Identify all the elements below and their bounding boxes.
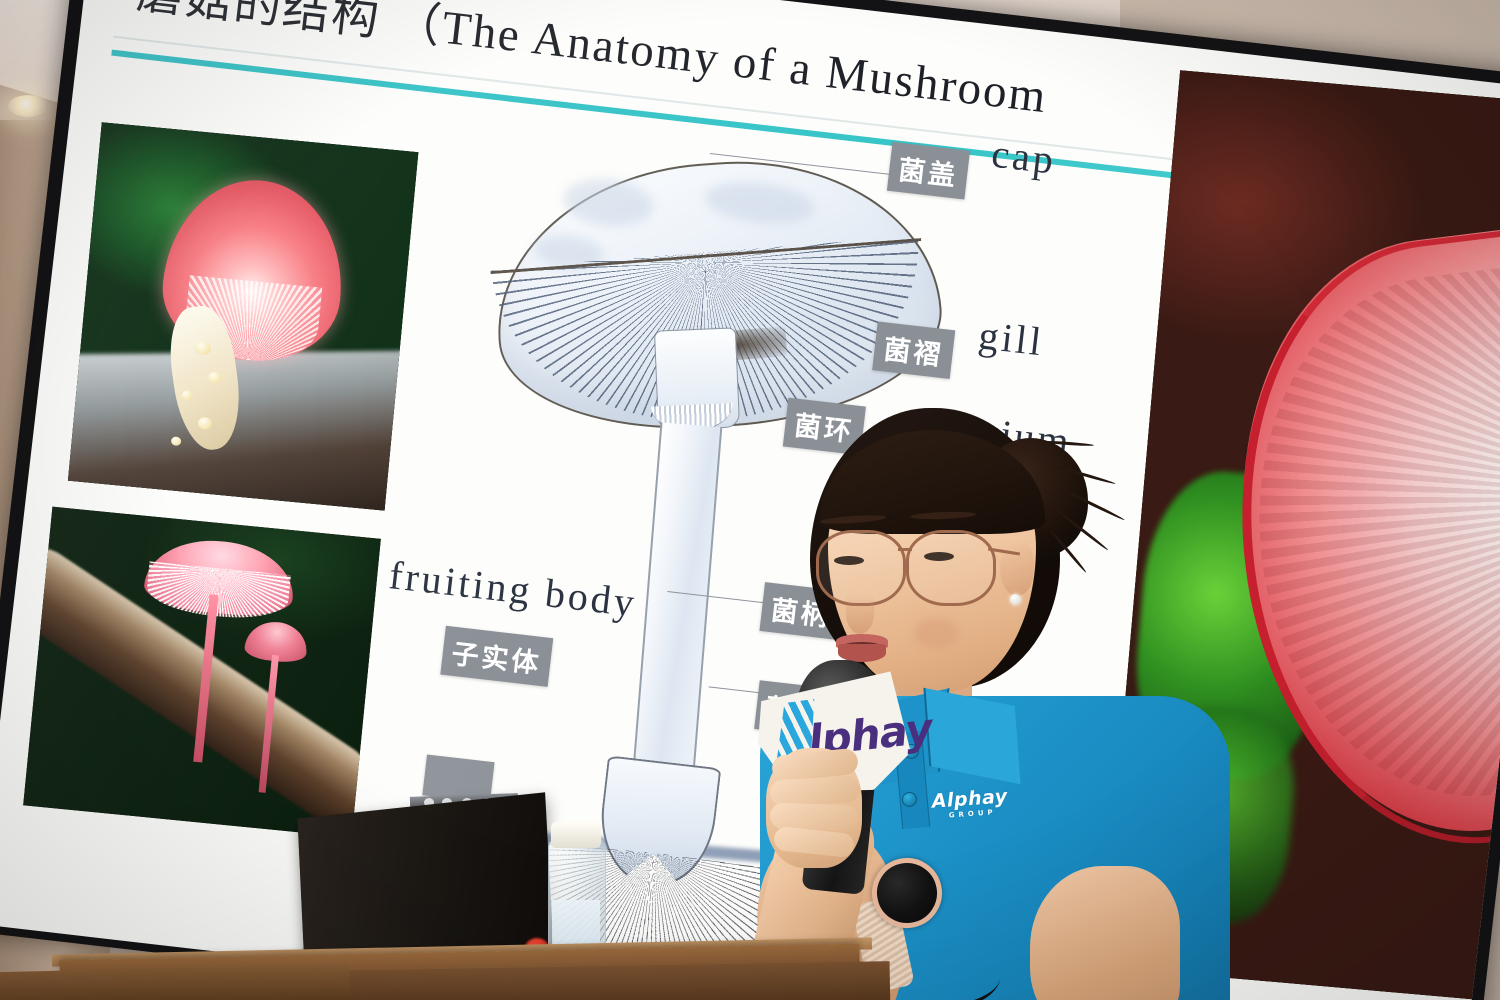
- shirt-button: [902, 792, 917, 807]
- nose: [846, 594, 874, 634]
- eyeglasses-bridge: [898, 548, 912, 551]
- bottle-cap: [551, 822, 601, 848]
- label-en-cap: cap: [989, 130, 1058, 184]
- label-en-gill: gill: [976, 311, 1046, 365]
- eyeglasses-right-lens: [906, 530, 996, 606]
- slide-photo-pink-mushroom: [68, 122, 418, 510]
- slide-photo-mycena-cluster: [23, 507, 381, 838]
- label-cn-gill: 菌褶: [872, 321, 955, 379]
- earring: [1010, 594, 1021, 605]
- presenter: Alphay GROUP lphay: [700, 380, 1260, 1000]
- label-cn-cap: 菌盖: [887, 142, 970, 200]
- shirt-logo: Alphay GROUP: [931, 785, 1009, 820]
- photo-scene: 蘑菇的结构 （The Anatomy of a Mushroom: [0, 0, 1500, 1000]
- slide-title-cn: 蘑菇的结构: [134, 0, 383, 46]
